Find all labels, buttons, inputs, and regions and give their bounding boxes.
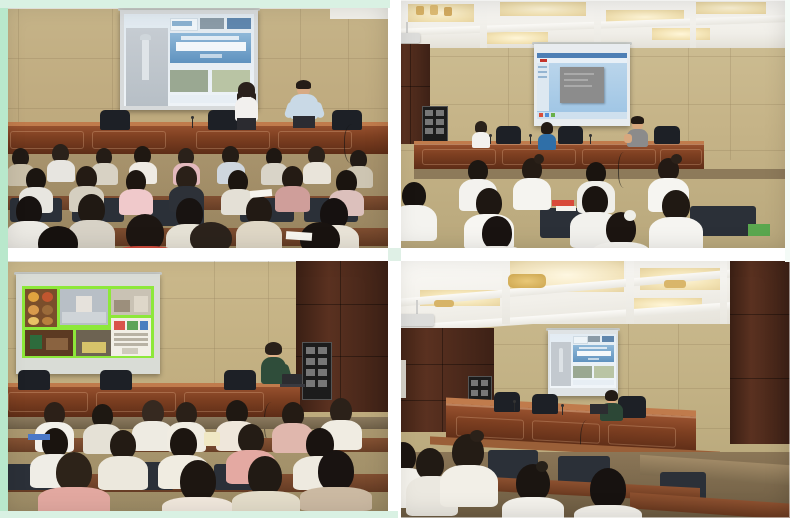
presenter-woman [232, 84, 262, 130]
presentation-slide [550, 334, 616, 388]
projection-screen [16, 274, 160, 374]
wall-display-board [302, 342, 332, 400]
collage-panel-top-right [390, 0, 790, 252]
projection-screen [548, 330, 618, 396]
wall-display-board [422, 106, 448, 142]
collage-frame-top [0, 0, 390, 8]
wood-wall-right [730, 252, 790, 444]
collage-frame-left [0, 0, 8, 518]
windows-desktop-slide [537, 53, 627, 119]
laptop [590, 404, 608, 414]
floor-cable [618, 152, 633, 188]
collage-panel-bottom-right [390, 252, 790, 518]
stage-chair [100, 110, 130, 130]
projection-screen [534, 44, 630, 126]
collage-frame-bottom [0, 511, 398, 518]
collage-frame-right [785, 0, 790, 262]
collage-panel-bottom-left [0, 252, 390, 518]
presentation-slide-collage [22, 286, 154, 358]
collage-gutter-cross [388, 248, 401, 261]
presenter-man [286, 82, 326, 130]
collage-panel-top-left [0, 0, 390, 252]
